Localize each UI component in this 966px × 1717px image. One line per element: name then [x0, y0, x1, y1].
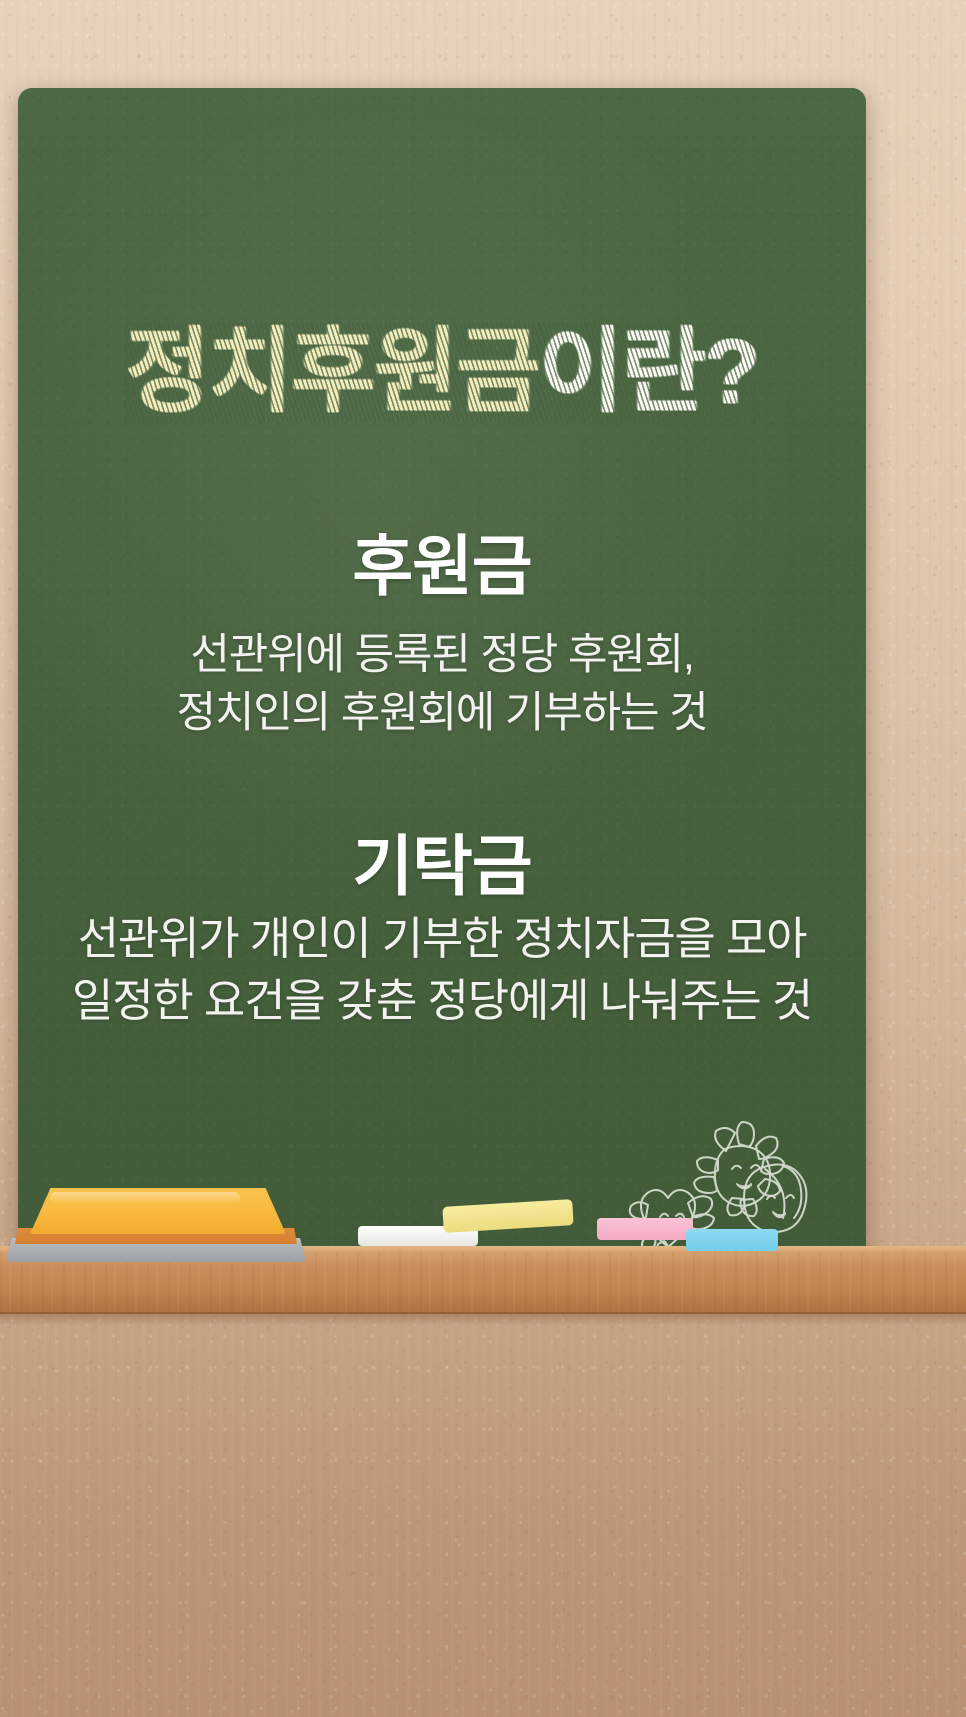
chalkboard-eraser[interactable] [6, 1190, 306, 1262]
page-title-white-part: 이란? [539, 326, 758, 418]
chalk-blue[interactable] [686, 1229, 778, 1251]
chalkboard-content: 정치후원금이란? 후원금 선관위에 등록된 정당 후원회, 정치인의 후원회에 … [18, 88, 866, 1266]
chalkboard: 정치후원금이란? 후원금 선관위에 등록된 정당 후원회, 정치인의 후원회에 … [18, 88, 866, 1266]
chalk-ledge-shadow [0, 1312, 966, 1326]
section-1-line-1: 선관위에 등록된 정당 후원회, [18, 634, 866, 677]
sunflower-face-doodle [694, 1122, 784, 1216]
eraser-highlight [50, 1192, 240, 1204]
chalk-pink[interactable] [597, 1218, 693, 1240]
page-title-cream-part: 정치후원금 [126, 326, 539, 418]
section-1-line-2: 정치인의 후원회에 기부하는 것 [18, 692, 866, 735]
section-heading-huwongeum: 후원금 [18, 533, 866, 599]
section-2-line-2: 일정한 요건을 갖춘 정당에게 나눠주는 것 [18, 978, 866, 1023]
page-title: 정치후원금이란? [18, 326, 866, 418]
section-2-line-1: 선관위가 개인이 기부한 정치자금을 모아 [18, 916, 866, 961]
section-heading-gitakgeum: 기탁금 [18, 833, 866, 899]
